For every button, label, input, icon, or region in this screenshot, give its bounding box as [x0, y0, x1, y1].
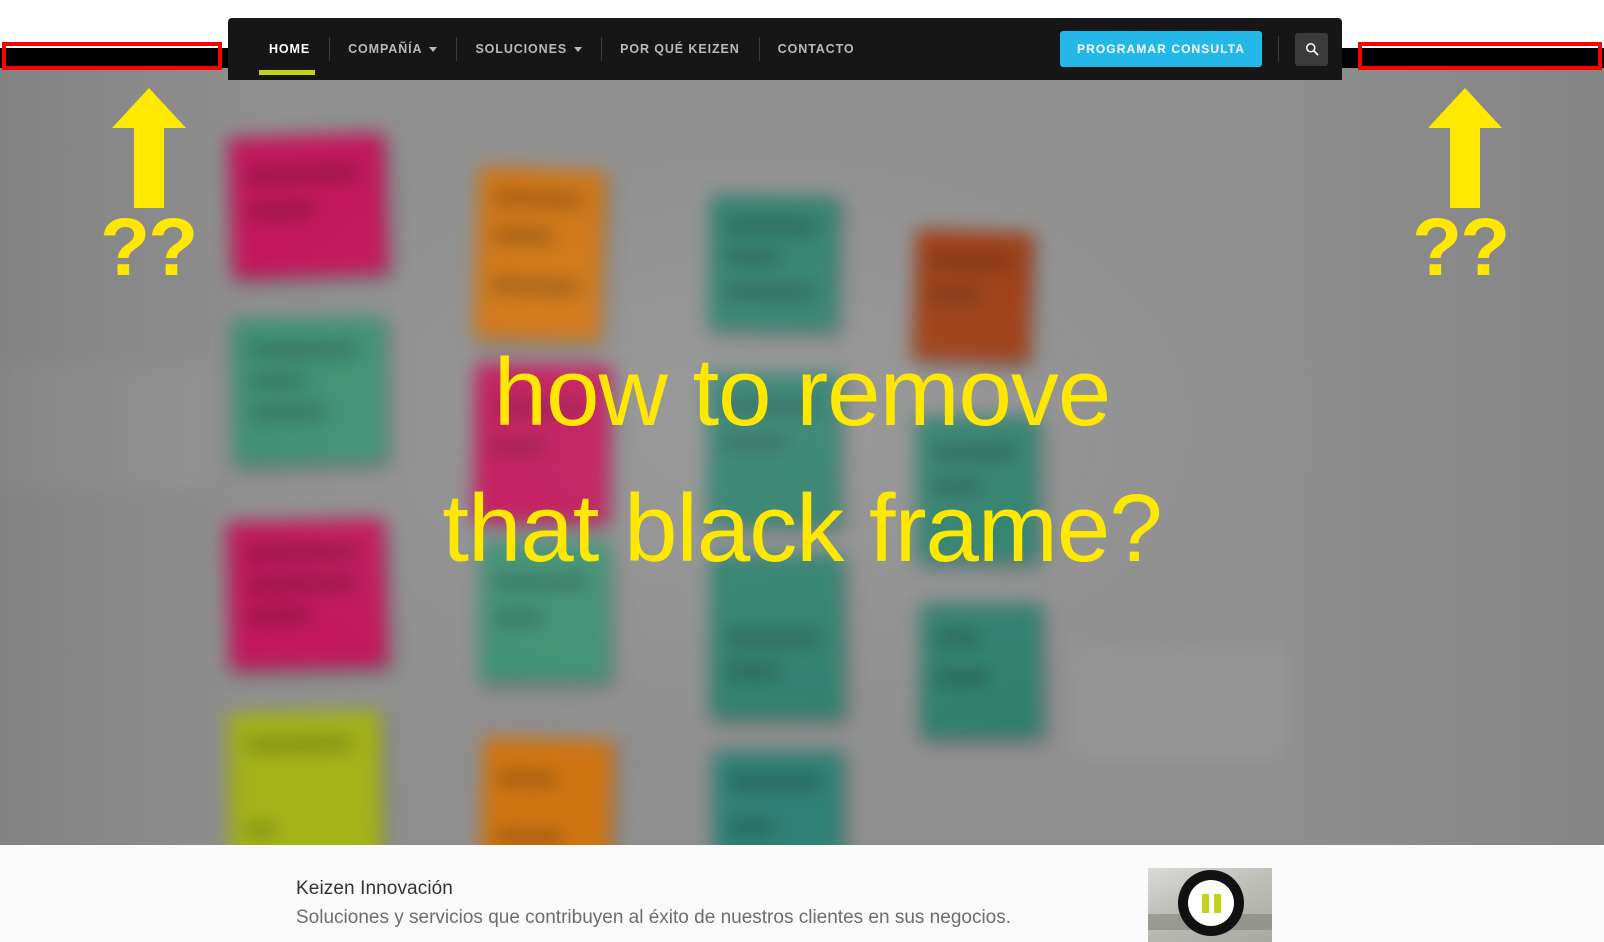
nav-item-por-que[interactable]: POR QUÉ KEIZEN — [601, 18, 759, 80]
intro-title: Keizen Innovación — [296, 878, 1011, 900]
nav-active-indicator — [259, 70, 315, 75]
chevron-down-icon — [429, 47, 437, 52]
nav-item-soluciones[interactable]: SOLUCIONES — [456, 18, 601, 80]
nav-item-label: CONTACTO — [778, 42, 855, 56]
sticky-note — [480, 737, 614, 845]
pause-icon-bar — [1214, 894, 1221, 913]
annotation-question-marks-left: ?? — [100, 207, 196, 289]
hero-wall-panel — [1070, 645, 1288, 759]
chevron-down-icon — [574, 47, 582, 52]
annotation-question-line-2: that black frame? — [0, 461, 1604, 597]
search-button[interactable] — [1295, 33, 1328, 66]
page-root: HOME COMPAÑÍA SOLUCIONES POR QUÉ KEIZEN … — [0, 0, 1604, 942]
below-fold-section: Keizen Innovación Soluciones y servicios… — [0, 845, 1604, 942]
video-play-button[interactable] — [1178, 870, 1244, 936]
nav-divider — [1278, 36, 1279, 62]
main-navigation-bar: HOME COMPAÑÍA SOLUCIONES POR QUÉ KEIZEN … — [228, 18, 1342, 80]
nav-item-label: POR QUÉ KEIZEN — [620, 42, 740, 56]
nav-item-contacto[interactable]: CONTACTO — [759, 18, 874, 80]
nav-link-list: HOME COMPAÑÍA SOLUCIONES POR QUÉ KEIZEN … — [250, 18, 874, 80]
annotation-question-text: how to remove that black frame? — [0, 325, 1604, 598]
sticky-note — [228, 133, 389, 279]
nav-item-label: COMPAÑÍA — [348, 42, 422, 56]
nav-item-label: HOME — [269, 42, 310, 56]
sticky-note — [708, 195, 839, 332]
intro-text-block: Keizen Innovación Soluciones y servicios… — [296, 878, 1011, 929]
sticky-note — [921, 604, 1042, 737]
nav-actions: PROGRAMAR CONSULTA — [1060, 18, 1342, 80]
programar-consulta-button[interactable]: PROGRAMAR CONSULTA — [1060, 31, 1262, 67]
black-frame-bar-left — [0, 48, 232, 68]
black-frame-bar-right — [1338, 48, 1604, 68]
sticky-note — [474, 167, 607, 343]
nav-item-compania[interactable]: COMPAÑÍA — [329, 18, 456, 80]
search-icon — [1305, 42, 1319, 56]
nav-item-label: SOLUCIONES — [475, 42, 567, 56]
below-fold-inner: Keizen Innovación Soluciones y servicios… — [0, 845, 1604, 942]
annotation-arrow-up-left — [112, 88, 186, 213]
intro-subtitle: Soluciones y servicios que contribuyen a… — [296, 907, 1011, 929]
pause-icon-bar — [1202, 894, 1209, 913]
annotation-arrow-up-right — [1428, 88, 1502, 213]
sticky-note — [227, 710, 384, 845]
pause-icon — [1188, 880, 1234, 926]
annotation-question-line-1: how to remove — [0, 325, 1604, 461]
annotation-question-marks-right: ?? — [1412, 207, 1508, 289]
sticky-note — [714, 751, 843, 845]
